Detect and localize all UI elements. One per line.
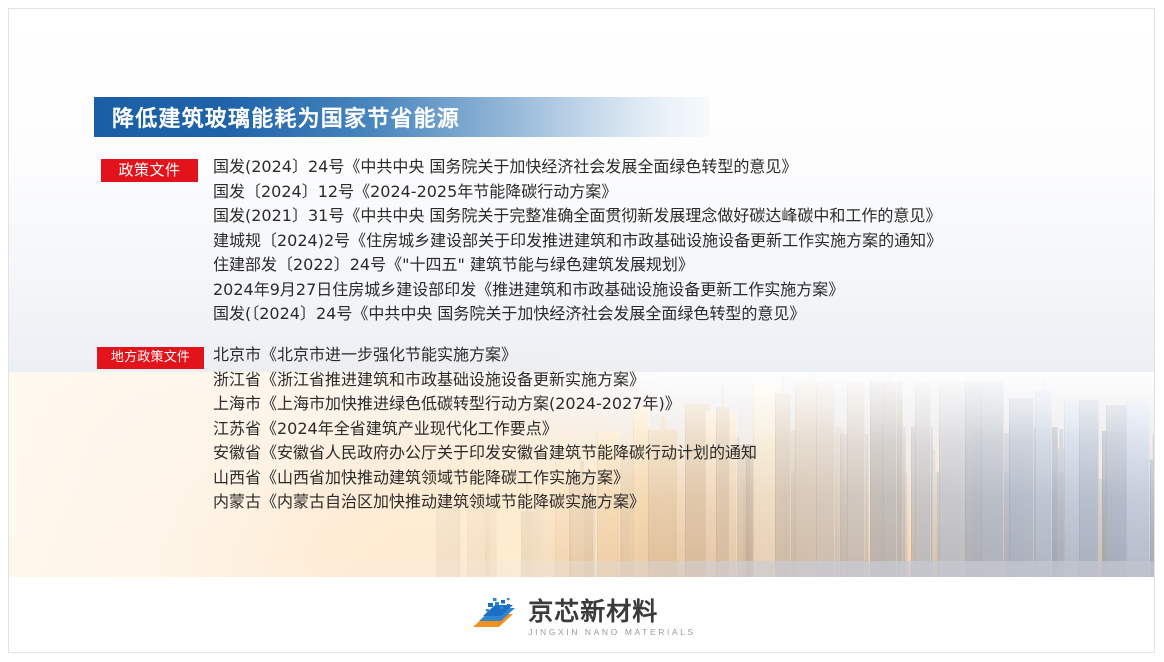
list-item: 浙江省《浙江省推进建筑和市政基础设施设备更新实施方案》 xyxy=(213,368,757,393)
footer-logo: 京芯新材料 JINGXIN NANO MATERIALS xyxy=(9,597,1154,639)
building xyxy=(1126,402,1150,577)
logo-name-cn: 京芯新材料 xyxy=(528,599,696,624)
slide-canvas: 降低建筑玻璃能耗为国家节省能源 政策文件 国发(2024〕24号《中共中央 国务… xyxy=(8,8,1155,653)
page-title: 降低建筑玻璃能耗为国家节省能源 xyxy=(112,101,460,133)
list-item: 国发(2021〕31号《中共中央 国务院关于完整准确全面贯彻新发展理念做好碳达峰… xyxy=(213,204,942,229)
national-policy-list: 国发(2024〕24号《中共中央 国务院关于加快经济社会发展全面绿色转型的意见》… xyxy=(213,155,942,327)
list-item: 北京市《北京市进一步强化节能实施方案》 xyxy=(213,343,757,368)
list-item: 内蒙古《内蒙古自治区加快推动建筑领域节能降碳实施方案》 xyxy=(213,490,757,515)
list-item: 国发〔2024〕12号《2024-2025年节能降碳行动方案》 xyxy=(213,180,942,205)
slide-frame: 降低建筑玻璃能耗为国家节省能源 政策文件 国发(2024〕24号《中共中央 国务… xyxy=(0,0,1164,662)
local-policy-list: 北京市《北京市进一步强化节能实施方案》 浙江省《浙江省推进建筑和市政基础设施设备… xyxy=(213,343,757,515)
badge-local-policy: 地方政策文件 xyxy=(97,347,204,369)
building xyxy=(847,381,864,577)
list-item: 安徽省《安徽省人民政府办公厅关于印发安徽省建筑节能降碳行动计划的通知 xyxy=(213,441,757,466)
company-logo-icon xyxy=(467,597,519,639)
logo-name-en: JINGXIN NANO MATERIALS xyxy=(528,628,696,637)
list-item: 山西省《山西省加快推动建筑领域节能降碳工作实施方案》 xyxy=(213,466,757,491)
building xyxy=(981,381,1004,577)
slide-title-bar: 降低建筑玻璃能耗为国家节省能源 xyxy=(94,97,709,137)
building xyxy=(775,393,790,577)
building xyxy=(915,381,931,577)
building-spire xyxy=(888,372,890,381)
list-item: 江苏省《2024年全省建筑产业现代化工作要点》 xyxy=(213,417,757,442)
building-spire xyxy=(1042,372,1045,390)
list-item: 2024年9月27日住房城乡建设部印发《推进建筑和市政基础设施设备更新工作实施方… xyxy=(213,278,942,303)
section-local-policies: 地方政策文件 北京市《北京市进一步强化节能实施方案》 浙江省《浙江省推进建筑和市… xyxy=(97,347,757,515)
logo-wordmark: 京芯新材料 JINGXIN NANO MATERIALS xyxy=(528,599,696,637)
building xyxy=(1079,400,1099,577)
badge-national-policy: 政策文件 xyxy=(101,159,198,182)
list-item: 建城规〔2024)2号《住房城乡建设部关于印发推进建筑和市政基础设施设备更新工作… xyxy=(213,229,942,254)
building xyxy=(883,381,897,577)
list-item: 上海市《上海市加快推进绿色低碳转型行动方案(2024-2027年)》 xyxy=(213,392,757,417)
building xyxy=(1009,398,1034,577)
logo-lockup: 京芯新材料 JINGXIN NANO MATERIALS xyxy=(467,597,696,639)
cityscape-ground xyxy=(9,561,1154,577)
building xyxy=(1035,390,1052,577)
list-item: 住建部发〔2022〕24号《"十四五" 建筑节能与绿色建筑发展规划》 xyxy=(213,253,942,278)
list-item: 国发(2024〕24号《中共中央 国务院关于加快经济社会发展全面绿色转型的意见》 xyxy=(213,155,942,180)
building-spire xyxy=(782,372,784,393)
building-spire xyxy=(807,372,812,381)
building xyxy=(939,381,967,577)
section-national-policies: 政策文件 国发(2024〕24号《中共中央 国务院关于加快经济社会发展全面绿色转… xyxy=(101,159,942,327)
list-item: 国发(〔2024〕24号《中共中央 国务院关于加快经济社会发展全面绿色转型的意见… xyxy=(213,302,942,327)
building xyxy=(816,381,835,577)
